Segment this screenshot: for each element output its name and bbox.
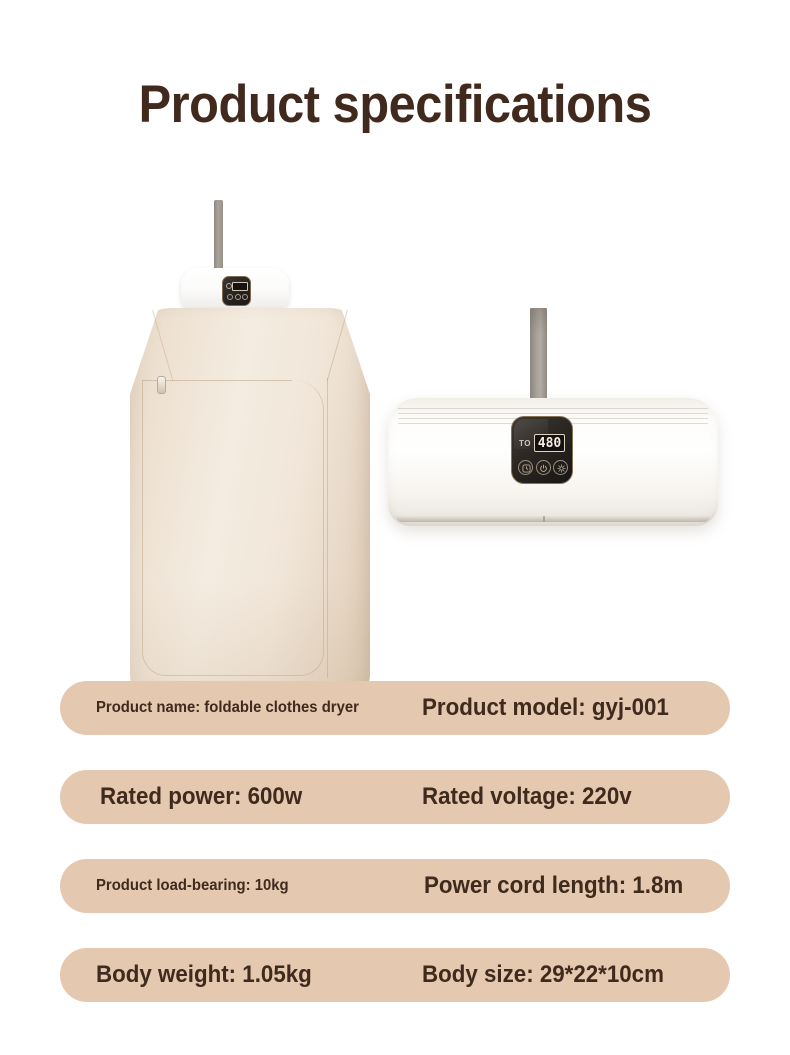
bag-front-panel xyxy=(142,380,324,676)
spec-row: Product load-bearing: 10kg Power cord le… xyxy=(60,859,730,913)
spec-row: Rated power: 600w Rated voltage: 220v xyxy=(60,770,730,824)
display-readout-folded: 480 xyxy=(534,434,565,452)
spec-product-name: Product name: foldable clothes dryer xyxy=(96,699,359,717)
timer-icon xyxy=(227,294,233,300)
zipper-pull-icon xyxy=(157,376,166,394)
heat-icon xyxy=(553,460,568,475)
control-panel-folded: TO 480 xyxy=(511,416,573,484)
power-cord-upright xyxy=(214,200,223,272)
body-ridge xyxy=(398,413,708,414)
specifications-list: Product name: foldable clothes dryer Pro… xyxy=(60,681,730,1037)
spec-load-bearing: Product load-bearing: 10kg xyxy=(96,877,289,895)
spec-rated-power: Rated power: 600w xyxy=(100,783,302,811)
button-row-folded xyxy=(518,460,568,475)
spec-power-cord-length: Power cord length: 1.8m xyxy=(424,872,683,900)
dryer-bag xyxy=(130,308,370,700)
power-icon xyxy=(235,294,241,300)
body-base-lip xyxy=(396,516,710,522)
page-title: Product specifications xyxy=(32,74,759,136)
mode-label: TO xyxy=(519,439,531,448)
body-base-seam xyxy=(543,516,545,522)
display-readout-upright xyxy=(232,282,248,291)
spec-product-model: Product model: gyj-001 xyxy=(422,694,669,722)
power-cord-folded xyxy=(530,308,547,405)
button-row-upright xyxy=(227,294,248,300)
spec-body-weight: Body weight: 1.05kg xyxy=(96,961,312,989)
display-value: 480 xyxy=(538,437,561,450)
spec-row: Product name: foldable clothes dryer Pro… xyxy=(60,681,730,735)
product-image-stage: TO 480 xyxy=(0,150,790,670)
control-panel-upright xyxy=(222,276,251,306)
product-photo-folded-dryer: TO 480 xyxy=(388,308,718,538)
power-icon xyxy=(536,460,551,475)
spec-rated-voltage: Rated voltage: 220v xyxy=(422,783,632,811)
heat-icon xyxy=(242,294,248,300)
body-ridge xyxy=(398,408,708,409)
spec-body-size: Body size: 29*22*10cm xyxy=(422,961,664,989)
timer-icon xyxy=(518,460,533,475)
product-photo-upright-dryer xyxy=(130,200,370,700)
bag-seam-vertical xyxy=(327,378,328,678)
spec-row: Body weight: 1.05kg Body size: 29*22*10c… xyxy=(60,948,730,1002)
dryer-body-folded: TO 480 xyxy=(388,398,718,526)
